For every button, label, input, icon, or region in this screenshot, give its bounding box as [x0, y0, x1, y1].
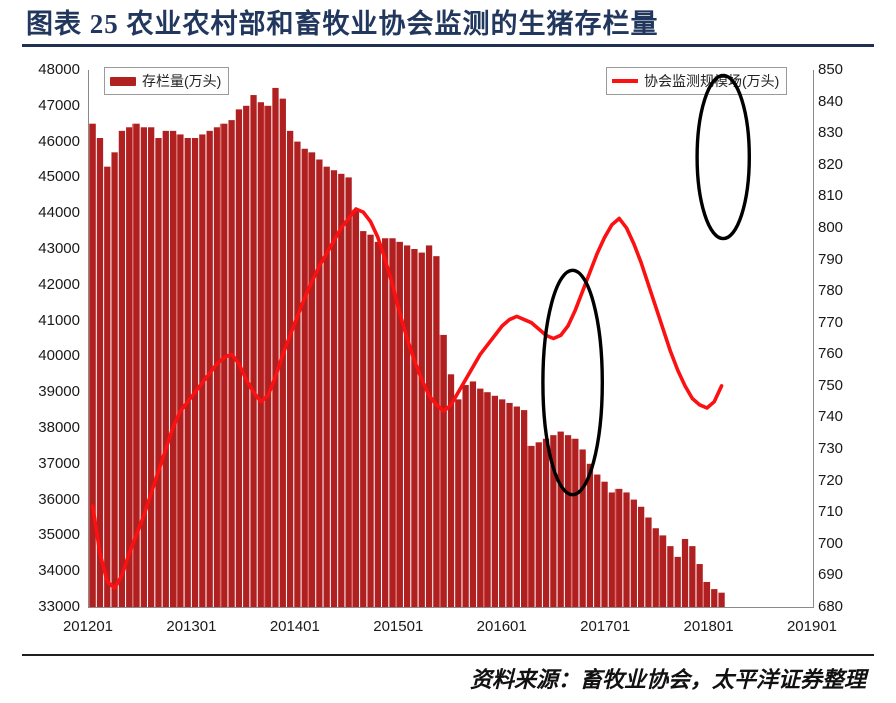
bar	[287, 131, 293, 607]
bar	[484, 392, 490, 607]
bar	[477, 389, 483, 607]
bar	[645, 518, 651, 608]
bar	[411, 249, 417, 607]
bar	[718, 593, 724, 607]
bar	[316, 160, 322, 608]
bar	[324, 167, 330, 607]
chart-title-bar: 图表 25 农业农村部和畜牧业协会监测的生猪存栏量	[0, 0, 896, 48]
bar	[353, 210, 359, 607]
bar	[404, 245, 410, 607]
bar	[294, 142, 300, 607]
bar	[609, 492, 615, 607]
y-axis-left-tick: 35000	[10, 529, 80, 541]
bar	[616, 489, 622, 607]
bar	[367, 235, 373, 607]
y-axis-right-tick: 820	[818, 159, 888, 171]
y-axis-left-tick: 33000	[10, 601, 80, 613]
bar	[309, 152, 315, 607]
bar	[565, 435, 571, 607]
bar	[302, 149, 308, 607]
y-axis-left-tick: 38000	[10, 422, 80, 434]
bar	[711, 589, 717, 607]
bar	[521, 410, 527, 607]
bar	[579, 449, 585, 607]
bar	[536, 442, 542, 607]
y-axis-left-tick: 34000	[10, 565, 80, 577]
bar	[192, 138, 198, 607]
bar	[177, 134, 183, 607]
bar	[90, 124, 96, 607]
bar	[528, 446, 534, 607]
bar	[170, 131, 176, 607]
bar	[675, 557, 681, 607]
bar	[272, 88, 278, 607]
bar	[426, 245, 432, 607]
y-axis-left-tick: 45000	[10, 171, 80, 183]
bar	[499, 399, 505, 607]
page-title: 图表 25 农业农村部和畜牧业协会监测的生猪存栏量	[26, 4, 896, 44]
bar	[492, 396, 498, 607]
x-axis-tick: 201901	[767, 618, 857, 635]
bar	[360, 231, 366, 607]
bar	[448, 374, 454, 607]
bar	[419, 253, 425, 607]
y-axis-right-tick: 710	[818, 506, 888, 518]
bar	[155, 138, 161, 607]
bar	[185, 138, 191, 607]
y-axis-right-tick: 730	[818, 443, 888, 455]
source-footer: 资料来源：畜牧业协会，太平洋证券整理	[0, 654, 896, 703]
bar	[243, 106, 249, 607]
bar	[265, 106, 271, 607]
y-axis-right-tick: 700	[818, 538, 888, 550]
y-axis-left-tick: 42000	[10, 279, 80, 291]
y-axis-right-tick: 720	[818, 475, 888, 487]
bar	[221, 124, 227, 607]
x-axis-tick: 201601	[457, 618, 547, 635]
title-divider	[22, 44, 874, 47]
x-axis-tick: 201301	[146, 618, 236, 635]
bar	[704, 582, 710, 607]
y-axis-left-tick: 46000	[10, 136, 80, 148]
bar	[506, 403, 512, 607]
y-axis-right-tick: 850	[818, 64, 888, 76]
x-axis-tick: 201401	[250, 618, 340, 635]
bar	[148, 127, 154, 607]
bar	[199, 134, 205, 607]
bar	[514, 407, 520, 607]
bar	[462, 385, 468, 607]
y-axis-right-tick: 800	[818, 222, 888, 234]
bar	[141, 127, 147, 607]
y-axis-left-tick: 37000	[10, 458, 80, 470]
bar	[338, 174, 344, 607]
y-axis-right-tick: 680	[818, 601, 888, 613]
x-axis-tick: 201501	[353, 618, 443, 635]
bar	[382, 238, 388, 607]
bar	[558, 432, 564, 607]
y-axis-right-tick: 750	[818, 380, 888, 392]
source-text: 资料来源：畜牧业协会，太平洋证券整理	[470, 662, 866, 694]
bar	[601, 482, 607, 607]
plot-area	[88, 70, 814, 608]
chart-container: 存栏量(万头) 协会监测规模场(万头) 33000340003500036000…	[0, 52, 896, 652]
y-axis-left-tick: 43000	[10, 243, 80, 255]
y-axis-left-tick: 41000	[10, 315, 80, 327]
bar	[250, 95, 256, 607]
bar	[587, 464, 593, 607]
bar	[163, 131, 169, 607]
y-axis-right-tick: 790	[818, 254, 888, 266]
y-axis-right-tick: 740	[818, 411, 888, 423]
bar	[653, 528, 659, 607]
y-axis-right-tick: 810	[818, 190, 888, 202]
bar	[258, 102, 264, 607]
bar	[397, 242, 403, 607]
y-axis-left-tick: 39000	[10, 386, 80, 398]
x-axis-tick: 201801	[664, 618, 754, 635]
bar	[455, 399, 461, 607]
y-axis-right-tick: 840	[818, 96, 888, 108]
y-axis-right-tick: 760	[818, 348, 888, 360]
annotation-ellipse-2018	[697, 75, 749, 238]
y-axis-right-tick: 830	[818, 127, 888, 139]
y-axis-left-tick: 40000	[10, 350, 80, 362]
y-axis-left-tick: 48000	[10, 64, 80, 76]
bar	[682, 539, 688, 607]
y-axis-right-tick: 690	[818, 569, 888, 581]
y-axis-left-tick: 44000	[10, 207, 80, 219]
bar	[433, 256, 439, 607]
bar	[660, 535, 666, 607]
bar	[572, 439, 578, 607]
bar	[631, 500, 637, 607]
bar	[470, 381, 476, 607]
source-divider	[22, 654, 874, 656]
y-axis-left-tick: 36000	[10, 494, 80, 506]
y-axis-right-tick: 770	[818, 317, 888, 329]
bar	[345, 177, 351, 607]
bar	[111, 152, 117, 607]
x-axis-tick: 201201	[43, 618, 133, 635]
bar	[594, 475, 600, 607]
bar	[543, 439, 549, 607]
bar	[126, 127, 132, 607]
bar	[375, 242, 381, 607]
bar	[638, 507, 644, 607]
bar	[119, 131, 125, 607]
bar	[689, 546, 695, 607]
bar	[104, 167, 110, 607]
bar	[667, 546, 673, 607]
y-axis-left-tick: 47000	[10, 100, 80, 112]
bar	[623, 492, 629, 607]
x-axis-tick: 201701	[560, 618, 650, 635]
bar	[228, 120, 234, 607]
bar	[441, 335, 447, 607]
bar	[697, 564, 703, 607]
plot-svg	[89, 70, 813, 607]
y-axis-right-tick: 780	[818, 285, 888, 297]
